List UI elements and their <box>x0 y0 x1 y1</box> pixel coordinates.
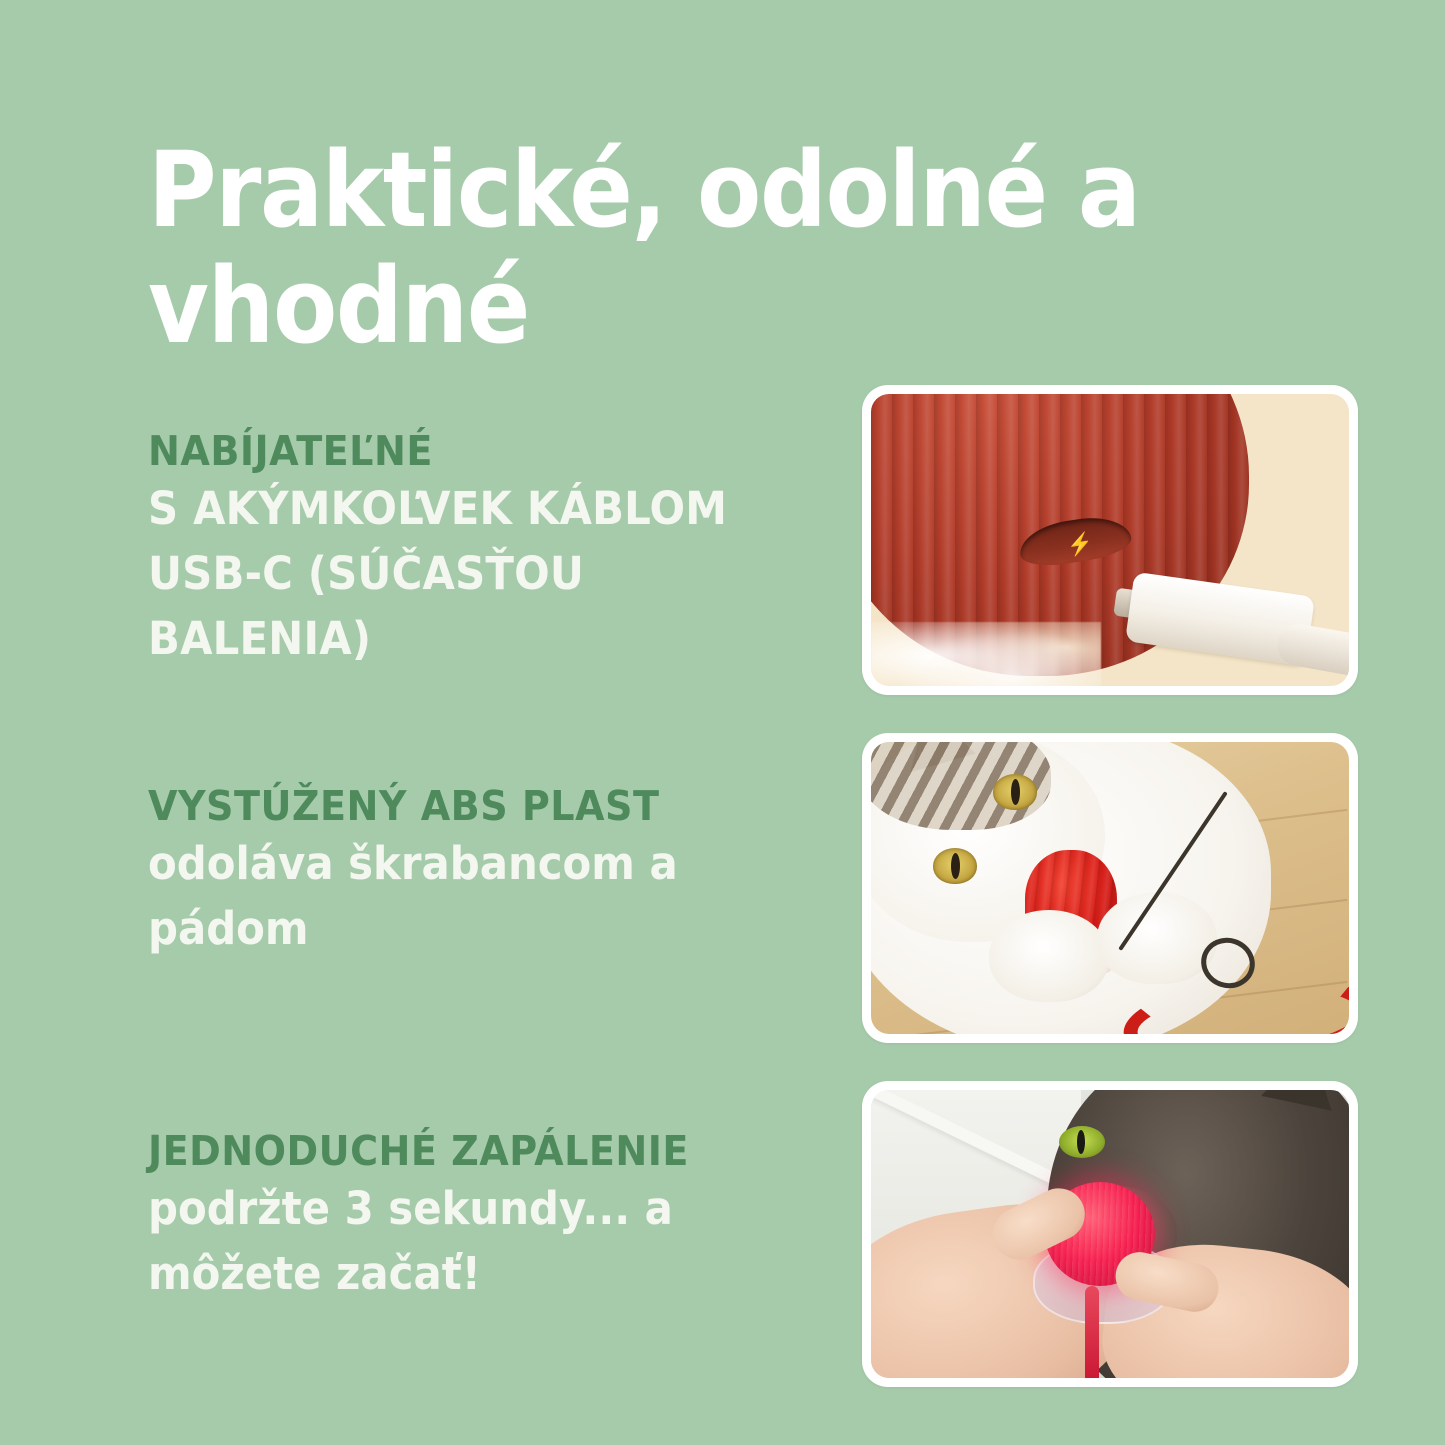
feature-item-abs-plastic: VYSTÚŽENÝ ABS PLAST odoláva škrabancom a… <box>148 780 848 962</box>
cat-playing-scene <box>871 742 1349 1034</box>
cat-pupil <box>951 853 960 879</box>
cat-paw <box>1097 892 1217 984</box>
durability-photo-card <box>862 733 1358 1043</box>
feature-body: odoláva škrabancom a pádom <box>148 832 799 962</box>
charging-photo: ⚡ <box>871 394 1349 686</box>
durability-photo <box>871 742 1349 1034</box>
cat-pupil <box>1011 779 1020 805</box>
charging-scene: ⚡ <box>871 394 1349 686</box>
feature-title: JEDNODUCHÉ ZAPÁLENIE <box>148 1125 836 1177</box>
feature-body: podržte 3 sekundy... a môžete začať! <box>148 1177 836 1307</box>
cat-paw <box>989 910 1109 1002</box>
activation-photo-card <box>862 1081 1358 1387</box>
feature-title: VYSTÚŽENÝ ABS PLAST <box>148 780 799 832</box>
activation-photo <box>871 1090 1349 1378</box>
charging-photo-card: ⚡ <box>862 385 1358 695</box>
plastic-wrap <box>871 622 1101 686</box>
feature-title: NABÍJATEĽNÉ <box>148 425 799 477</box>
page-title: Praktické, odolné a vhodné <box>148 132 1156 365</box>
activation-scene <box>871 1090 1349 1378</box>
feature-item-rechargeable: NABÍJATEĽNÉ S AKÝMKOĽVEK KÁBLOM USB-C (S… <box>148 425 848 672</box>
promo-poster: Praktické, odolné a vhodné NABÍJATEĽNÉ S… <box>0 0 1445 1445</box>
toy-stem <box>1085 1286 1099 1378</box>
charging-bolt-icon: ⚡ <box>1065 532 1094 558</box>
feature-item-easy-activation: JEDNODUCHÉ ZAPÁLENIE podržte 3 sekundy..… <box>148 1125 888 1307</box>
feature-body: S AKÝMKOĽVEK KÁBLOM USB-C (SÚČASŤOU BALE… <box>148 477 799 671</box>
cat-pupil <box>1077 1130 1085 1154</box>
usb-c-cable-tail <box>1274 621 1349 681</box>
